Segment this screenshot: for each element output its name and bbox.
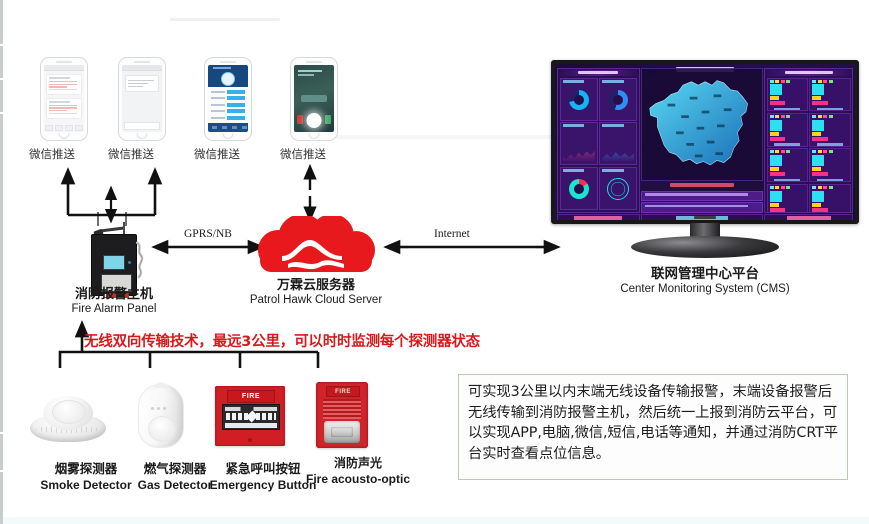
phone-home-button bbox=[223, 133, 234, 139]
dashboard-center-column bbox=[641, 68, 762, 213]
cms-label-cn: 联网管理中心平台 bbox=[551, 262, 859, 282]
device-label-sounder-cn: 消防声光 bbox=[293, 454, 423, 471]
description-note-box: 可实现3公里以内末端无线设备传输报警，末端设备报警后无线传输到消防报警主机，然后… bbox=[458, 374, 848, 480]
fire-alarm-panel-label-cn: 消防报警主机 bbox=[44, 283, 184, 302]
phone-screen bbox=[122, 65, 162, 132]
monitor-brand-logo bbox=[694, 216, 716, 219]
link-label-gprs: GPRS/NB bbox=[184, 228, 232, 240]
phone-notch bbox=[306, 61, 322, 63]
phone-label-1: 微信推送 bbox=[17, 146, 87, 162]
sounder-face-text: FIRE bbox=[335, 389, 351, 395]
cms-label: 联网管理中心平台 Center Monitoring System (CMS) bbox=[551, 262, 859, 295]
phone-wechat-list-icon[interactable] bbox=[40, 57, 88, 141]
cloud-server-label: 万霖云服务器 Patrol Hawk Cloud Server bbox=[246, 274, 386, 306]
cloud-icon[interactable] bbox=[252, 216, 380, 278]
phone-app-icon[interactable] bbox=[204, 57, 252, 141]
phone-screen bbox=[44, 65, 84, 132]
fire-alarm-panel-label: 消防报警主机 Fire Alarm Panel bbox=[44, 283, 184, 315]
monitor-icon[interactable]: 联网管理中心平台 Center Monitoring System (CMS) bbox=[551, 60, 859, 260]
phone-sms-icon[interactable] bbox=[118, 57, 166, 141]
dashboard-device-list bbox=[764, 214, 853, 220]
dashboard-event-log bbox=[557, 214, 640, 220]
emergency-call-point-icon[interactable]: FIRE bbox=[202, 376, 298, 454]
phone-label-2: 微信推送 bbox=[96, 146, 166, 162]
call-point-face-text: FIRE bbox=[242, 393, 260, 400]
monitor-stand bbox=[631, 236, 779, 258]
diagram-canvas: 微信推送 微信推送 微信推送 微信推送 消防报警主机 Fire Alarm Pa… bbox=[0, 0, 869, 524]
gas-detector-icon[interactable] bbox=[112, 376, 208, 454]
phone-screen bbox=[208, 65, 248, 132]
cms-dashboard-screen bbox=[555, 64, 855, 220]
cloud-server-label-en: Patrol Hawk Cloud Server bbox=[246, 294, 386, 306]
monitor-bezel bbox=[551, 60, 859, 224]
phone-home-button bbox=[137, 133, 148, 139]
device-label-sounder: 消防声光 Fire acousto-optic bbox=[293, 454, 423, 486]
panel-lcd-icon bbox=[103, 255, 125, 270]
cloud-server-label-cn: 万霖云服务器 bbox=[246, 274, 386, 293]
device-label-sounder-en: Fire acousto-optic bbox=[293, 472, 423, 486]
phone-home-button bbox=[309, 133, 320, 139]
wireless-banner-text: 无线双向传输技术，最远3公里，可以时时监测每个探测器状态 bbox=[84, 330, 480, 351]
decline-call-icon bbox=[297, 115, 303, 124]
dashboard-alert-list bbox=[641, 191, 762, 213]
phone-screen bbox=[294, 65, 334, 132]
fire-alarm-panel-label-en: Fire Alarm Panel bbox=[44, 303, 184, 315]
phone-home-button bbox=[59, 133, 70, 139]
link-label-internet: Internet bbox=[434, 228, 470, 240]
dashboard-left-column bbox=[557, 68, 640, 213]
dashboard-alert-heading bbox=[641, 182, 762, 189]
phone-label-3: 微信推送 bbox=[182, 146, 252, 162]
mobile-notification-group bbox=[40, 57, 340, 157]
smoke-detector-icon[interactable] bbox=[22, 376, 118, 454]
phone-call-icon[interactable] bbox=[290, 57, 338, 141]
china-map-icon bbox=[641, 68, 762, 181]
cms-label-en: Center Monitoring System (CMS) bbox=[551, 283, 859, 295]
phone-notch bbox=[134, 61, 150, 63]
dashboard-right-column bbox=[764, 68, 853, 213]
accept-call-icon bbox=[325, 115, 331, 124]
phone-label-4: 微信推送 bbox=[268, 146, 338, 162]
panel-cable-icon bbox=[135, 240, 144, 280]
description-note-text: 可实现3公里以内末端无线设备传输报警，末端设备报警后无线传输到消防报警主机，然后… bbox=[468, 382, 838, 464]
fire-sounder-beacon-icon[interactable]: FIRE bbox=[294, 376, 390, 454]
phone-notch bbox=[220, 61, 236, 63]
phone-notch bbox=[56, 61, 72, 63]
